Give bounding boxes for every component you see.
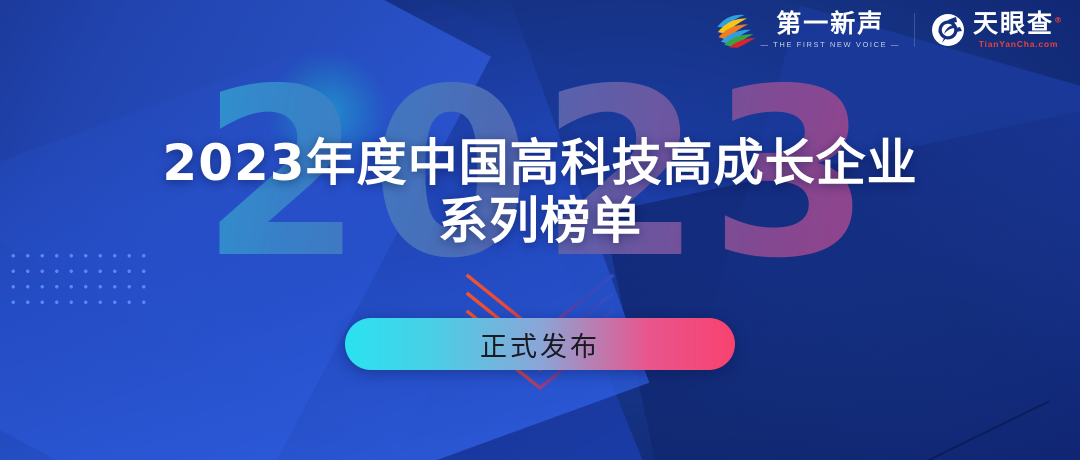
publish-status-pill[interactable]: 正式发布 <box>345 318 735 370</box>
logo-diyixinsheng-text: 第一新声 — THE FIRST NEW VOICE — <box>761 11 900 48</box>
logo-diyixinsheng[interactable]: 第一新声 — THE FIRST NEW VOICE — <box>713 10 900 50</box>
page-title: 2023年度中国高科技高成长企业 系列榜单 <box>0 134 1080 250</box>
publish-status-label: 正式发布 <box>480 325 600 364</box>
registered-trademark-icon: ® <box>1054 16 1064 25</box>
headline-line-2: 系列榜单 <box>0 192 1080 250</box>
logo-divider <box>914 13 915 47</box>
logo-tianyancha[interactable]: 天眼查® TianYanCha.com <box>929 11 1064 49</box>
logo-tianyancha-url: TianYanCha.com <box>979 39 1059 49</box>
logo-diyixinsheng-name: 第一新声 <box>776 11 884 37</box>
promo-banner: 2023 2023年度中国高科技高成长企业 系列榜单 正式发布 <box>0 0 1080 460</box>
logo-tianyancha-text: 天眼查® TianYanCha.com <box>973 11 1064 48</box>
headline-line-1: 2023年度中国高科技高成长企业 <box>162 134 917 192</box>
logo-tianyancha-name: 天眼查® <box>973 11 1064 37</box>
swirl-globe-icon <box>713 10 755 50</box>
logo-tianyancha-name-label: 天眼查 <box>973 9 1054 38</box>
logo-group: 第一新声 — THE FIRST NEW VOICE — 天眼查® TianYa… <box>713 10 1064 50</box>
logo-diyixinsheng-tagline: — THE FIRST NEW VOICE — <box>761 40 900 49</box>
eye-shutter-icon <box>929 11 967 49</box>
